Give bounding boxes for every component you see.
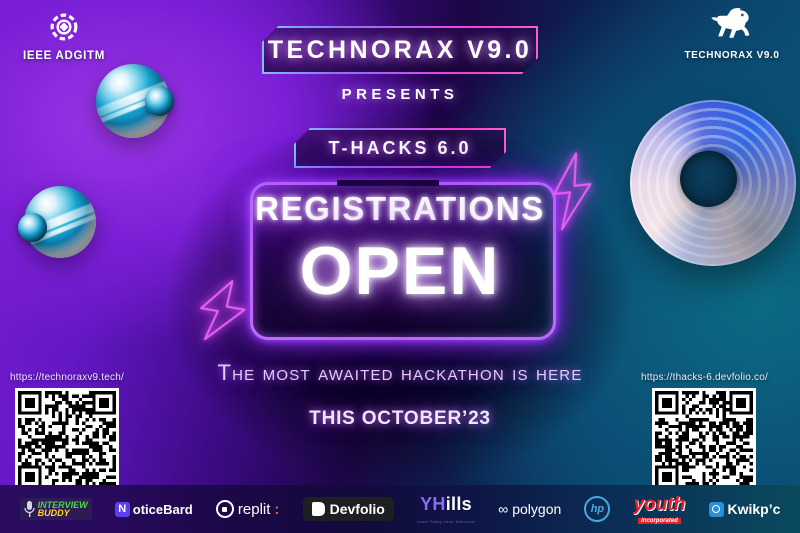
- microphone-icon: [24, 500, 35, 518]
- sponsor-hp[interactable]: hp: [584, 496, 610, 522]
- qr-url-devfolio: https://thacks-6.devfolio.co/: [641, 372, 768, 383]
- technorax-logo-label: TECHNORAX V9.0: [684, 50, 779, 61]
- presents-label: PRESENTS: [0, 86, 800, 103]
- sponsor-polygon[interactable]: ∞ polygon: [498, 501, 561, 517]
- decorative-torus: [615, 85, 800, 282]
- sponsor-polygon-label: polygon: [512, 501, 561, 517]
- sponsor-youth-incorporated[interactable]: youth incorporated: [634, 495, 686, 524]
- poster-title: TECHNORAX V9.0: [268, 36, 532, 65]
- sponsor-noticebard-label: oticeBard: [133, 502, 193, 517]
- ieee-adgitm-label: IEEE ADGITM: [23, 50, 105, 62]
- sponsor-youth-sub: incorporated: [638, 518, 681, 524]
- qr-code-devfolio[interactable]: [652, 388, 756, 492]
- lightning-bolt-icon: [191, 274, 256, 348]
- ieee-adgitm-logo: IEEE ADGITM: [14, 8, 114, 62]
- sponsor-yhills-label: YHills: [420, 494, 472, 515]
- devfolio-mark-icon: [312, 502, 325, 516]
- sponsor-kwikpic[interactable]: Kwikp’c: [709, 501, 781, 517]
- event-banner-thacks: T-HACKS 6.0: [294, 128, 506, 168]
- noticebard-mark-icon: N: [115, 502, 130, 517]
- qr-code-image: [655, 391, 753, 489]
- event-poster: IEEE ADGITM TECHNORAX V9.0 TECHNORAX V9.…: [0, 0, 800, 533]
- hp-logo-icon: hp: [584, 496, 610, 522]
- sponsor-yhills[interactable]: YHills Learn Today Lead Tomorrow: [417, 494, 475, 524]
- qr-code-image: [18, 391, 116, 489]
- technorax-corner-logo: TECHNORAX V9.0: [678, 6, 786, 61]
- sponsor-noticebard[interactable]: N oticeBard: [115, 502, 193, 517]
- sponsor-bar: INTERVIEW BUDDY N oticeBard replit : Dev…: [0, 485, 800, 533]
- sponsor-replit[interactable]: replit :: [216, 500, 280, 518]
- gear-diamond-icon: [45, 8, 83, 46]
- qr-block-devfolio[interactable]: https://thacks-6.devfolio.co/: [641, 372, 768, 492]
- sponsor-yhills-label-a: YH: [420, 494, 446, 514]
- sponsor-interviewbuddy[interactable]: INTERVIEW BUDDY: [20, 498, 92, 520]
- lightning-bolt-icon: [544, 150, 602, 233]
- sponsor-replit-label: replit: [238, 501, 271, 518]
- event-name: T-HACKS 6.0: [328, 138, 471, 159]
- polygon-mark-icon: ∞: [498, 501, 508, 517]
- sponsor-replit-suffix: :: [274, 501, 279, 518]
- replit-mark-icon: [216, 500, 234, 518]
- qr-block-technorax[interactable]: https://technoraxv9.tech/: [10, 372, 124, 492]
- sponsor-yhills-label-b: ills: [446, 494, 472, 514]
- sponsor-youth-label: youth: [634, 495, 686, 514]
- sponsor-interviewbuddy-line2: BUDDY: [38, 509, 88, 517]
- neon-frame: [250, 182, 556, 340]
- sponsor-devfolio-label: Devfolio: [330, 501, 385, 517]
- sponsor-kwikpic-label: Kwikp’c: [728, 501, 781, 517]
- dinosaur-icon: [710, 6, 754, 46]
- decorative-sphere-lower: [24, 186, 96, 258]
- qr-code-technorax[interactable]: [15, 388, 119, 492]
- title-banner-technorax: TECHNORAX V9.0: [262, 26, 538, 74]
- sponsor-yhills-sub: Learn Today Lead Tomorrow: [417, 519, 475, 524]
- sponsor-devfolio[interactable]: Devfolio: [303, 497, 394, 521]
- qr-url-technorax: https://technoraxv9.tech/: [10, 372, 124, 383]
- kwikpic-mark-icon: [709, 502, 724, 517]
